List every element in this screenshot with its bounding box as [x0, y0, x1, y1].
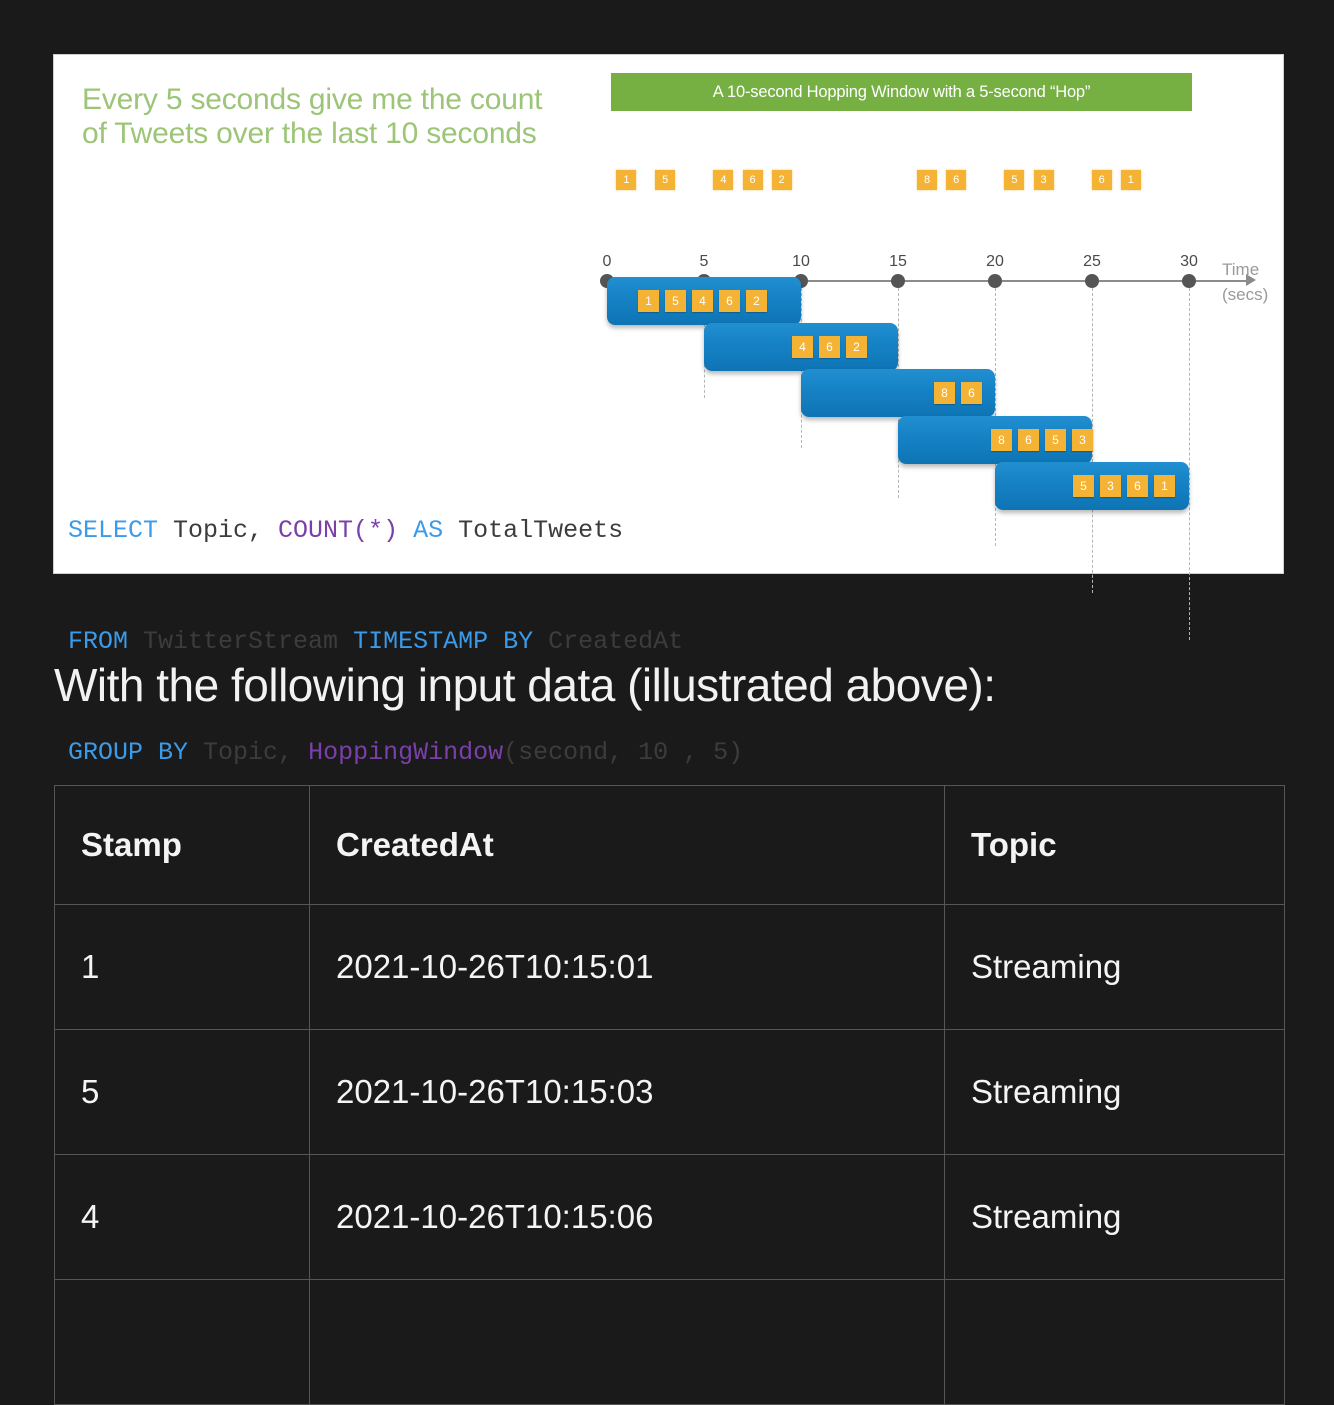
sql-token: GROUP BY	[68, 738, 188, 767]
window-event-chip: 5	[1045, 429, 1066, 451]
table-header: Stamp CreatedAt Topic	[55, 786, 1285, 905]
sql-token: TwitterStream	[128, 627, 353, 656]
table-row: 52021-10-26T10:15:03Streaming	[55, 1030, 1285, 1155]
window-chip-group: 462	[789, 336, 870, 358]
window-event-chip: 8	[934, 382, 955, 404]
time-axis-label: Time (secs)	[1222, 258, 1268, 307]
window-event-chip: 6	[1018, 429, 1039, 451]
table-row: 12021-10-26T10:15:01Streaming	[55, 905, 1285, 1030]
axis-tick-label-30: 30	[1180, 253, 1198, 271]
window-event-chip: 4	[792, 336, 813, 358]
window-chip-group: 5361	[1070, 475, 1178, 497]
sql-token: SELECT	[68, 516, 158, 545]
window-event-chip: 1	[638, 290, 659, 312]
window-chip-group: 86	[931, 382, 985, 404]
hopping-window-bar: 86	[801, 369, 995, 417]
event-chip: 2	[772, 170, 792, 190]
axis-tick-label-10: 10	[792, 253, 810, 271]
sql-token	[398, 516, 413, 545]
sql-line-2: FROM TwitterStream TIMESTAMP BY CreatedA…	[68, 623, 743, 660]
window-event-chip: 2	[846, 336, 867, 358]
sql-token: FROM	[68, 627, 128, 656]
window-event-chip: 3	[1100, 475, 1121, 497]
window-chip-group: 15462	[635, 290, 770, 312]
window-event-chip: 3	[1072, 429, 1093, 451]
cell-topic: Streaming	[945, 1155, 1285, 1280]
page-caption: With the following input data (illustrat…	[54, 658, 996, 712]
event-chip: 5	[655, 170, 675, 190]
event-chip: 5	[1004, 170, 1024, 190]
event-chip: 1	[1121, 170, 1141, 190]
sql-token: (second, 10 , 5)	[503, 738, 743, 767]
window-event-chip: 4	[692, 290, 713, 312]
axis-tick-label-0: 0	[603, 253, 612, 271]
sql-token: CreatedAt	[533, 627, 683, 656]
cell-createdat	[310, 1280, 945, 1405]
column-header-stamp: Stamp	[55, 786, 310, 905]
cell-createdat: 2021-10-26T10:15:01	[310, 905, 945, 1030]
sql-token: Topic,	[188, 738, 308, 767]
table-row	[55, 1280, 1285, 1405]
cell-stamp: 5	[55, 1030, 310, 1155]
slide-card: Every 5 seconds give me the count of Twe…	[54, 55, 1283, 573]
axis-tick-dot-25	[1085, 274, 1099, 288]
axis-tick-label-20: 20	[986, 253, 1004, 271]
window-event-chip: 5	[1073, 475, 1094, 497]
time-axis-label-name: Time	[1222, 258, 1268, 283]
event-chip: 6	[743, 170, 763, 190]
axis-tick-dot-20	[988, 274, 1002, 288]
window-event-chip: 6	[719, 290, 740, 312]
table-header-row: Stamp CreatedAt Topic	[55, 786, 1285, 905]
axis-tick-dot-30	[1182, 274, 1196, 288]
axis-tick-label-25: 25	[1083, 253, 1101, 271]
column-header-createdat: CreatedAt	[310, 786, 945, 905]
axis-guide-line-30	[1189, 288, 1190, 640]
time-axis-label-units: (secs)	[1222, 283, 1268, 308]
sql-token: HoppingWindow	[308, 738, 503, 767]
event-chip: 1	[616, 170, 636, 190]
sql-line-1: SELECT Topic, COUNT(*) AS TotalTweets	[68, 512, 743, 549]
sql-token: Topic,	[158, 516, 278, 545]
cell-stamp: 4	[55, 1155, 310, 1280]
cell-createdat: 2021-10-26T10:15:06	[310, 1155, 945, 1280]
axis-tick-label-5: 5	[700, 253, 709, 271]
window-event-chip: 6	[961, 382, 982, 404]
event-chip: 4	[713, 170, 733, 190]
event-chip: 8	[917, 170, 937, 190]
sql-query-block: SELECT Topic, COUNT(*) AS TotalTweets FR…	[68, 438, 743, 845]
input-data-table: Stamp CreatedAt Topic 12021-10-26T10:15:…	[54, 785, 1285, 1405]
window-event-chip: 6	[819, 336, 840, 358]
cell-createdat: 2021-10-26T10:15:03	[310, 1030, 945, 1155]
cell-stamp	[55, 1280, 310, 1405]
window-event-chip: 6	[1127, 475, 1148, 497]
window-event-chip: 8	[991, 429, 1012, 451]
window-chip-group: 8653	[988, 429, 1096, 451]
sql-token: AS	[413, 516, 443, 545]
column-header-topic: Topic	[945, 786, 1285, 905]
hopping-window-bar: 8653	[898, 416, 1092, 464]
sql-token: TotalTweets	[443, 516, 623, 545]
hopping-window-bar: 5361	[995, 462, 1189, 510]
table-row: 42021-10-26T10:15:06Streaming	[55, 1155, 1285, 1280]
axis-tick-dot-15	[891, 274, 905, 288]
event-chip: 6	[946, 170, 966, 190]
cell-stamp: 1	[55, 905, 310, 1030]
table-body: 12021-10-26T10:15:01Streaming52021-10-26…	[55, 905, 1285, 1405]
event-chip: 6	[1092, 170, 1112, 190]
cell-topic: Streaming	[945, 1030, 1285, 1155]
cell-topic	[945, 1280, 1285, 1405]
cell-topic: Streaming	[945, 905, 1285, 1030]
sql-line-3: GROUP BY Topic, HoppingWindow(second, 10…	[68, 734, 743, 771]
hopping-window-bar: 15462	[607, 277, 801, 325]
sql-token: TIMESTAMP BY	[353, 627, 533, 656]
sql-token: COUNT(*)	[278, 516, 398, 545]
axis-tick-label-15: 15	[889, 253, 907, 271]
window-event-chip: 1	[1154, 475, 1175, 497]
window-event-chip: 5	[665, 290, 686, 312]
event-chip: 3	[1034, 170, 1054, 190]
window-event-chip: 2	[746, 290, 767, 312]
hopping-window-bar: 462	[704, 323, 898, 371]
